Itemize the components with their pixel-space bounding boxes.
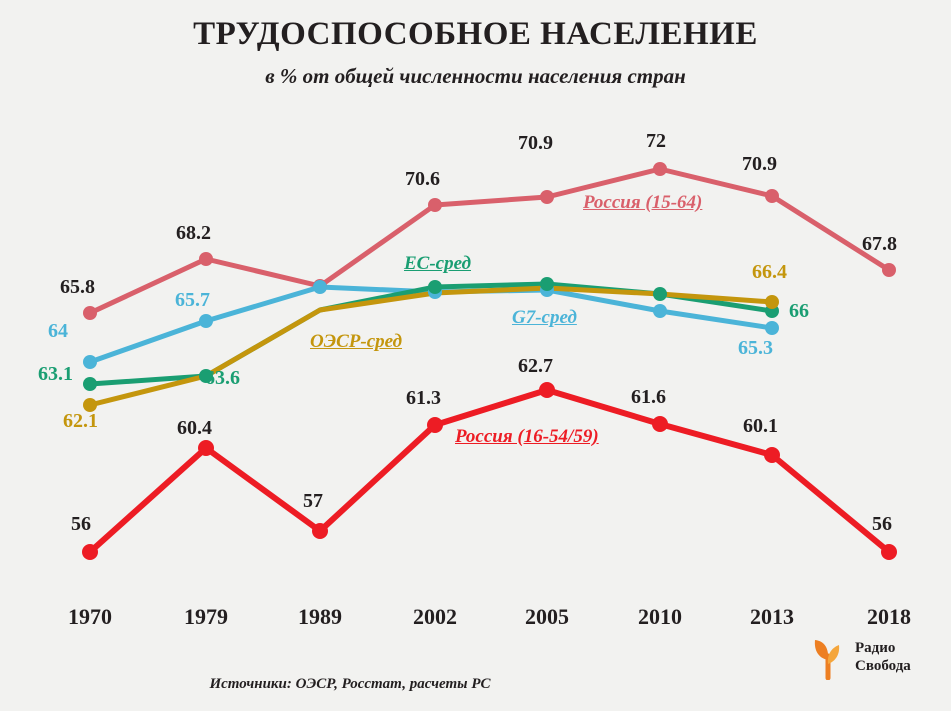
data-label: 64 — [48, 320, 68, 343]
series-annotation-rossiya-15-64: Россия (15-64) — [583, 192, 702, 214]
data-label: 61.3 — [406, 387, 441, 410]
data-point — [882, 263, 896, 277]
x-tick-label: 2018 — [839, 604, 939, 630]
x-tick-label: 2005 — [497, 604, 597, 630]
logo-text: Радио Свобода — [855, 639, 911, 675]
x-tick-label: 2002 — [385, 604, 485, 630]
data-point — [653, 287, 667, 301]
data-label: 65.8 — [60, 276, 95, 299]
data-label: 60.4 — [177, 417, 212, 440]
data-label: 63.1 — [38, 363, 73, 386]
series-annotation-rossiya-16-54-59: Россия (16-54/59) — [455, 426, 599, 448]
data-label: 60.1 — [743, 415, 778, 438]
data-label: 70.9 — [518, 132, 553, 155]
data-label: 56 — [872, 513, 892, 536]
data-point — [653, 162, 667, 176]
series-annotation-g7: G7-сред — [512, 307, 577, 329]
x-tick-label: 1979 — [156, 604, 256, 630]
data-label: 65.7 — [175, 289, 210, 312]
data-label: 62.7 — [518, 355, 553, 378]
data-point — [312, 523, 328, 539]
data-label: 67.8 — [862, 233, 897, 256]
data-point — [652, 416, 668, 432]
data-label: 70.9 — [742, 153, 777, 176]
data-point — [83, 306, 97, 320]
data-label: 68.2 — [176, 222, 211, 245]
data-label: 61.6 — [631, 386, 666, 409]
data-point — [428, 280, 442, 294]
data-label: 70.6 — [405, 168, 440, 191]
data-label: 66 — [789, 300, 809, 323]
data-point — [765, 321, 779, 335]
data-point — [428, 198, 442, 212]
data-point — [82, 544, 98, 560]
logo-line-1: Радио — [855, 639, 911, 657]
data-label: 56 — [71, 513, 91, 536]
data-point — [313, 280, 327, 294]
source-note: Источники: ОЭСР, Росстат, расчеты РС — [0, 676, 700, 693]
data-point — [540, 277, 554, 291]
data-point — [539, 382, 555, 398]
data-label: 57 — [303, 490, 323, 513]
data-point — [199, 252, 213, 266]
data-point — [764, 447, 780, 463]
data-point — [427, 417, 443, 433]
data-label: 62.1 — [63, 410, 98, 433]
x-tick-label: 2013 — [722, 604, 822, 630]
data-label: 63.6 — [205, 367, 240, 390]
data-point — [765, 189, 779, 203]
data-point — [198, 440, 214, 456]
series-annotation-oesr: ОЭСР-сред — [310, 331, 402, 353]
data-label: 66.4 — [752, 261, 787, 284]
data-point — [83, 355, 97, 369]
data-point — [765, 295, 779, 309]
data-point — [881, 544, 897, 560]
data-label: 65.3 — [738, 337, 773, 360]
data-point — [653, 304, 667, 318]
x-tick-label: 1989 — [270, 604, 370, 630]
series-annotation-es: ЕС-сред — [404, 253, 471, 275]
x-tick-label: 2010 — [610, 604, 710, 630]
data-label: 72 — [646, 130, 666, 153]
chart-root: ТРУДОСПОСОБНОЕ НАСЕЛЕНИЕ в % от общей чи… — [0, 0, 951, 711]
data-point — [199, 314, 213, 328]
x-tick-label: 1970 — [40, 604, 140, 630]
data-point — [83, 377, 97, 391]
logo-line-2: Свобода — [855, 657, 911, 675]
data-point — [540, 190, 554, 204]
radio-svoboda-logo-icon — [806, 634, 850, 680]
